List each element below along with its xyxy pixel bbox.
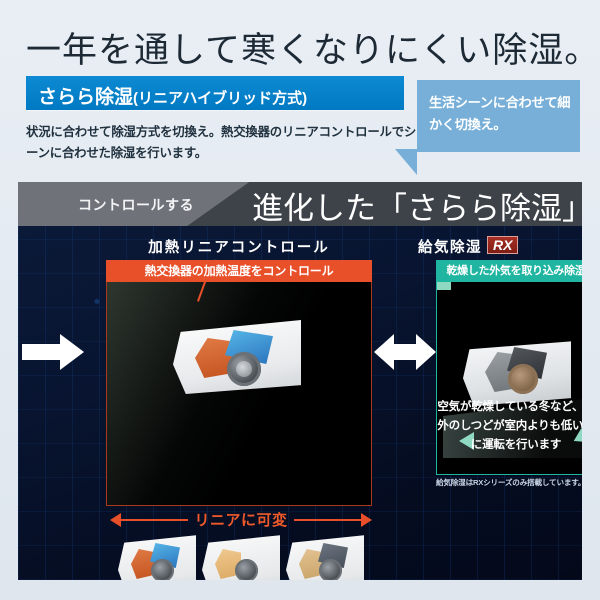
panel-header: コントロールする 進化した「さらら除湿」 [18, 182, 582, 226]
left-block-band: 熱交換器の加熱温度をコントロール [106, 260, 372, 282]
panel-header-subtitle: コントロールする [78, 195, 194, 215]
variation-thumbnails [118, 534, 364, 580]
callout-text: 生活シーンに合わせて細かく切換え。 [429, 92, 574, 136]
right-block-title: 給気除湿 [418, 240, 482, 256]
right-block-title-row: 給気除湿RX [418, 236, 566, 257]
right-block-summary: 空気が乾燥している冬など、屋外のしつどが室内よりも低い時に運転を行います [436, 398, 582, 455]
variable-label: リニアに可変 [194, 509, 287, 530]
inflow-arrow-icon [22, 332, 84, 372]
callout-tail-icon [395, 149, 417, 175]
lead-paragraph: 状況に合わせて除湿方式を切換え。熱交換器のリニアコントロールでシーンに合わせた除… [26, 122, 426, 164]
outflow-arrow-shaft [437, 282, 451, 290]
page-title: 一年を通して寒くなりにくい除湿。 [26, 22, 566, 73]
left-block-title: 加熱リニアコントロール [106, 236, 372, 257]
variable-range-indicator: リニアに可変 [110, 512, 372, 528]
thumbnail-item [286, 534, 364, 580]
supply-air-illustration [463, 340, 571, 406]
arrow-right-icon [361, 513, 372, 527]
feature-badge: さらら除湿(リニアハイブリッド方式) [26, 76, 404, 110]
infographic-page: 一年を通して寒くなりにくい除湿。 さらら除湿(リニアハイブリッド方式) 状況に合… [0, 0, 600, 600]
fan-icon [227, 352, 261, 386]
rx-badge: RX [487, 236, 518, 254]
left-block-band-label: 熱交換器の加熱温度をコントロール [106, 260, 372, 282]
exchange-double-arrow-icon [374, 332, 436, 372]
right-block-band-label: 乾燥した外気を取り込み除湿 [436, 260, 582, 282]
heat-exchanger-illustration [173, 320, 301, 394]
left-product-photo [106, 282, 372, 506]
right-block-header: 給気除湿RX [418, 236, 566, 257]
thumbnail-item [118, 534, 196, 580]
fan-icon [508, 364, 538, 394]
panel-header-title: 進化した「さらら除湿」 [252, 183, 582, 226]
callout-bubble: 生活シーンに合わせて細かく切換え。 [417, 80, 580, 152]
right-block-band: 乾燥した外気を取り込み除湿 [436, 260, 582, 282]
rx-footnote: 給気除湿はRXシリーズのみ搭載しています。 [436, 477, 582, 488]
left-block-header: 加熱リニアコントロール [106, 236, 372, 257]
thumbnail-item [202, 534, 280, 580]
feature-badge-label: さらら除湿(リニアハイブリッド方式) [38, 82, 307, 109]
dark-panel: コントロールする 進化した「さらら除湿」 加熱リニアコントロール 熱交換器の加熱… [18, 182, 582, 580]
